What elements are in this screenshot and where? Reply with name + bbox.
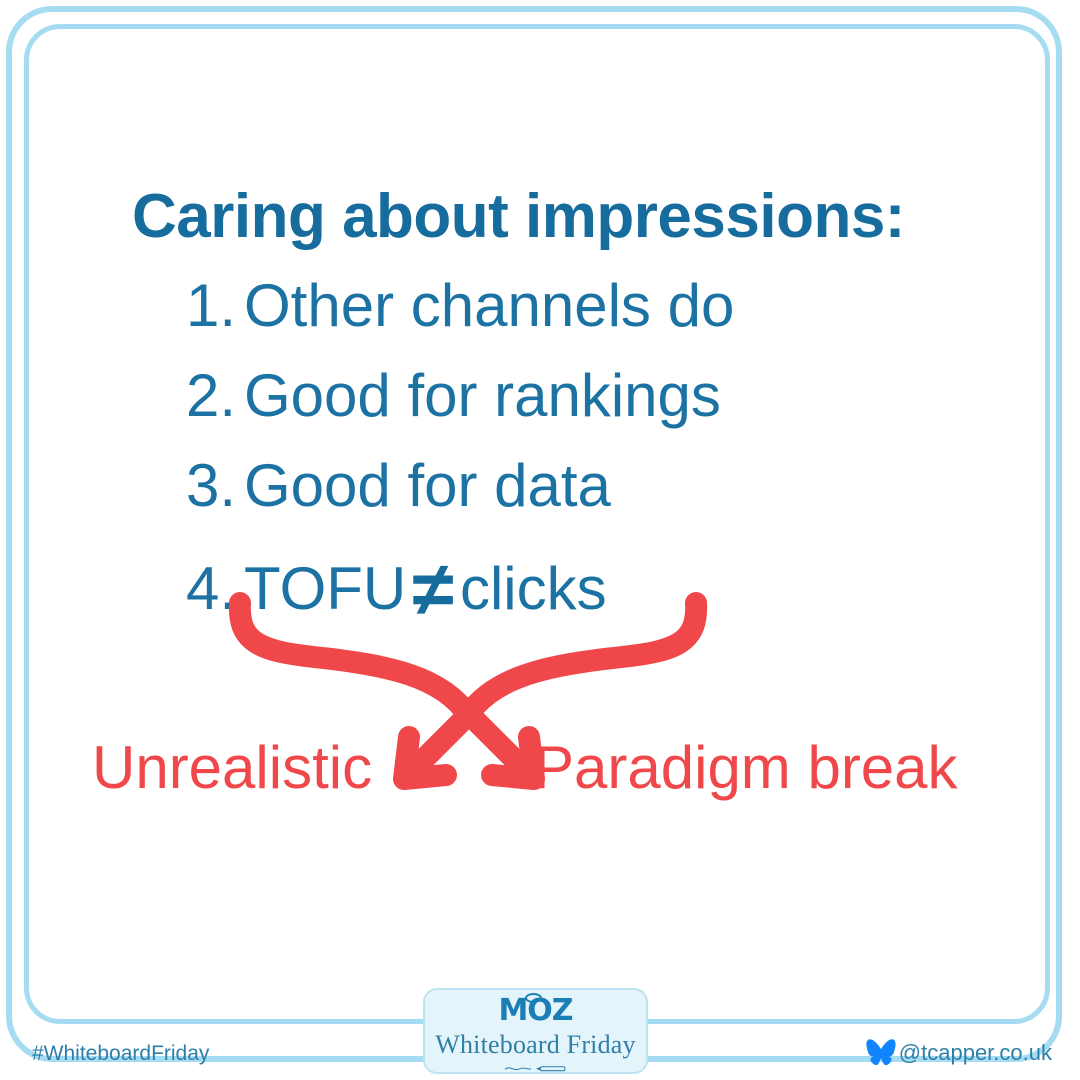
board-content: Caring about impressions: 1. Other chann… [0, 0, 1080, 1080]
list-item-number: 1. [186, 276, 244, 336]
whiteboard-marker-icon [456, 1065, 616, 1072]
footer-hashtag: #WhiteboardFriday [32, 1042, 209, 1066]
badge-title: Whiteboard Friday [435, 1032, 636, 1058]
list-item: 1. Other channels do [186, 276, 946, 366]
numbered-list: 1. Other channels do 2. Good for ranking… [186, 276, 946, 636]
list-item-label: Good for rankings [244, 366, 721, 426]
footer-handle-group[interactable]: @tcapper.co.uk [865, 1038, 1052, 1068]
list-item: 2. Good for rankings [186, 366, 946, 456]
annotation-label-right: Paradigm break [534, 738, 958, 798]
list-item-label: Good for data [244, 456, 611, 516]
list-item: 3. Good for data [186, 456, 946, 546]
bluesky-butterfly-icon [865, 1038, 897, 1068]
list-item-number: 2. [186, 366, 244, 426]
footer-handle-label: @tcapper.co.uk [899, 1040, 1052, 1066]
moz-whiteboard-friday-badge: MOZ Whiteboard Friday [423, 988, 648, 1074]
list-item-number: 3. [186, 456, 244, 516]
list-item-label: Other channels do [244, 276, 734, 336]
annotation-label-left: Unrealistic [92, 738, 372, 798]
whiteboard-canvas: Caring about impressions: 1. Other chann… [0, 0, 1080, 1080]
page-title: Caring about impressions: [132, 186, 905, 248]
moz-logo: MOZ [498, 996, 572, 1026]
